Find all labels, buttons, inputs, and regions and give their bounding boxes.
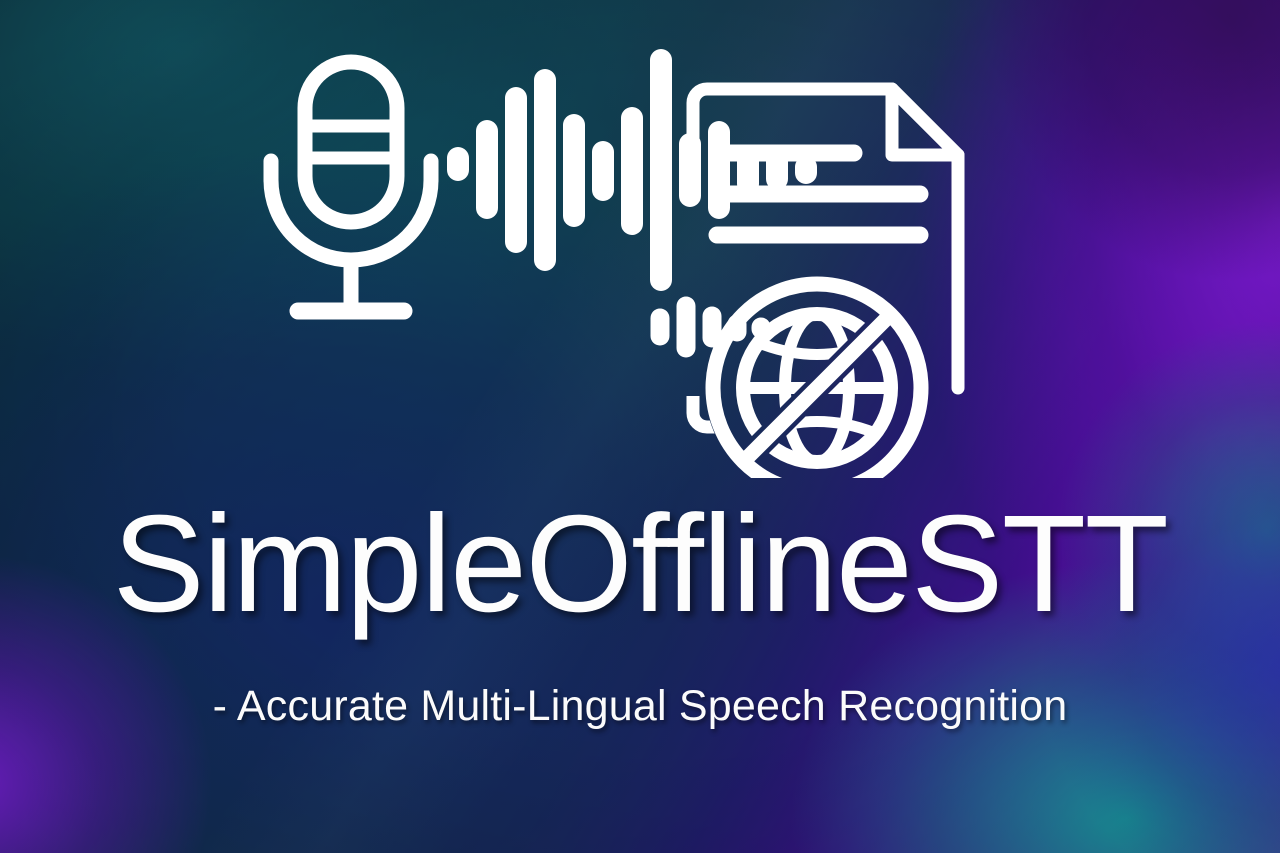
page-title: SimpleOfflineSTT <box>0 495 1280 633</box>
page-tagline: - Accurate Multi-Lingual Speech Recognit… <box>0 685 1280 728</box>
logo-artwork <box>262 48 1022 478</box>
microphone-icon <box>271 62 431 311</box>
globe-offline-icon <box>713 284 921 478</box>
logo-banner: SimpleOfflineSTT - Accurate Multi-Lingua… <box>0 0 1280 853</box>
